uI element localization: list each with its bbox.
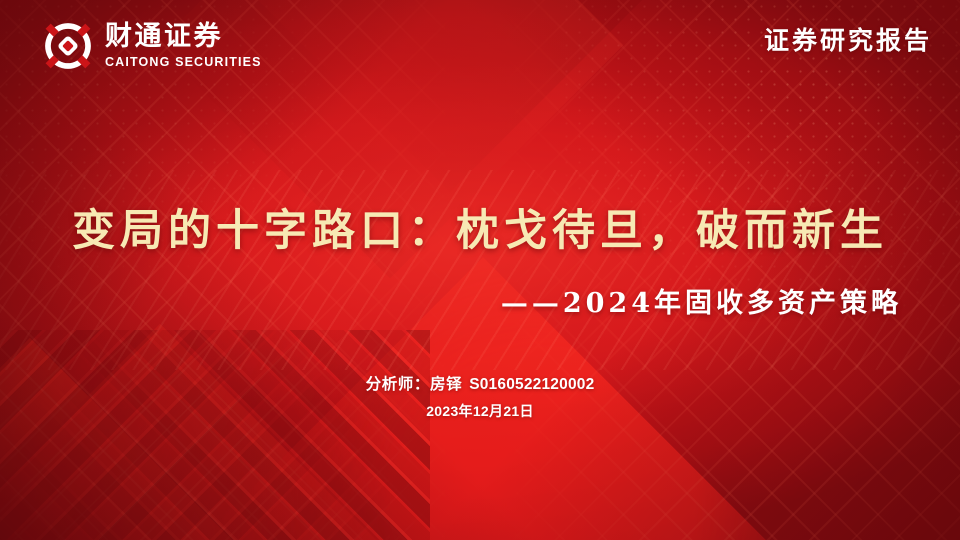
background-facets-bottom-right <box>0 330 430 540</box>
byline: 分析师：房铎S0160522120002 2023年12月21日 <box>0 372 960 421</box>
page-subtitle: ——2024年固收多资产策略 <box>501 281 902 320</box>
background-top-chevron-dark <box>238 0 662 192</box>
analyst-label: 分析师：房铎 <box>366 375 463 393</box>
background-diamond-left <box>0 338 242 540</box>
background-facets-bottom-left <box>0 330 390 540</box>
background-chevrons-left <box>0 0 461 540</box>
report-cover-slide: 财通证券 CAITONG SECURITIES 证券研究报告 变局的十字路口：枕… <box>0 0 960 540</box>
caitong-emblem-icon <box>42 20 94 72</box>
background-vignette <box>0 0 960 540</box>
analyst-line: 分析师：房铎S0160522120002 <box>0 372 960 394</box>
brand-name-en: CAITONG SECURITIES <box>105 56 262 69</box>
page-title: 变局的十字路口：枕戈待旦，破而新生 <box>0 196 960 258</box>
report-type-tag: 证券研究报告 <box>764 21 932 57</box>
brand-name-cn: 财通证券 <box>105 23 262 50</box>
background-diamond-right <box>0 324 386 540</box>
brand-wordmark: 财通证券 CAITONG SECURITIES <box>105 23 262 69</box>
background-base <box>0 0 960 540</box>
background-center-glow <box>0 0 960 540</box>
brand-logo: 财通证券 CAITONG SECURITIES <box>42 20 262 72</box>
analyst-license-code: S0160522120002 <box>469 376 594 393</box>
publish-date: 2023年12月21日 <box>0 401 960 421</box>
background-chevrons-right <box>499 0 960 540</box>
